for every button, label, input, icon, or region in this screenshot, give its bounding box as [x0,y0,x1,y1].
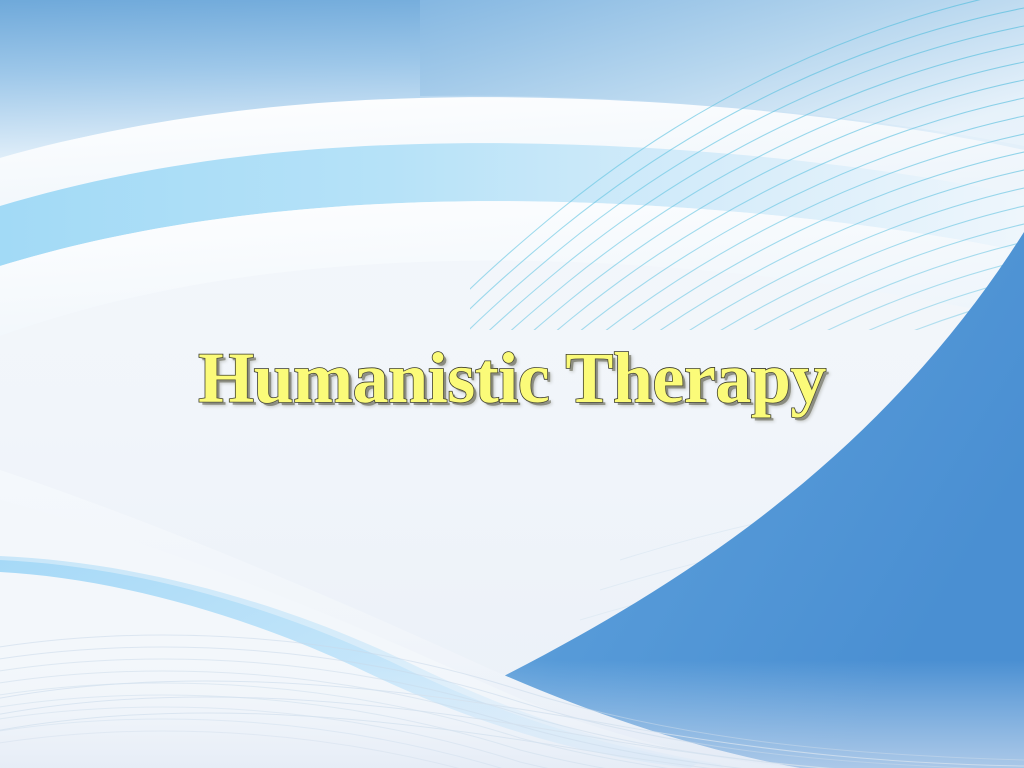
slide-content-area: Humanistic Therapy [0,0,1024,768]
presentation-slide: Humanistic Therapy [0,0,1024,768]
title-placeholder[interactable]: Humanistic Therapy [0,318,1024,438]
page-title: Humanistic Therapy [198,342,826,414]
